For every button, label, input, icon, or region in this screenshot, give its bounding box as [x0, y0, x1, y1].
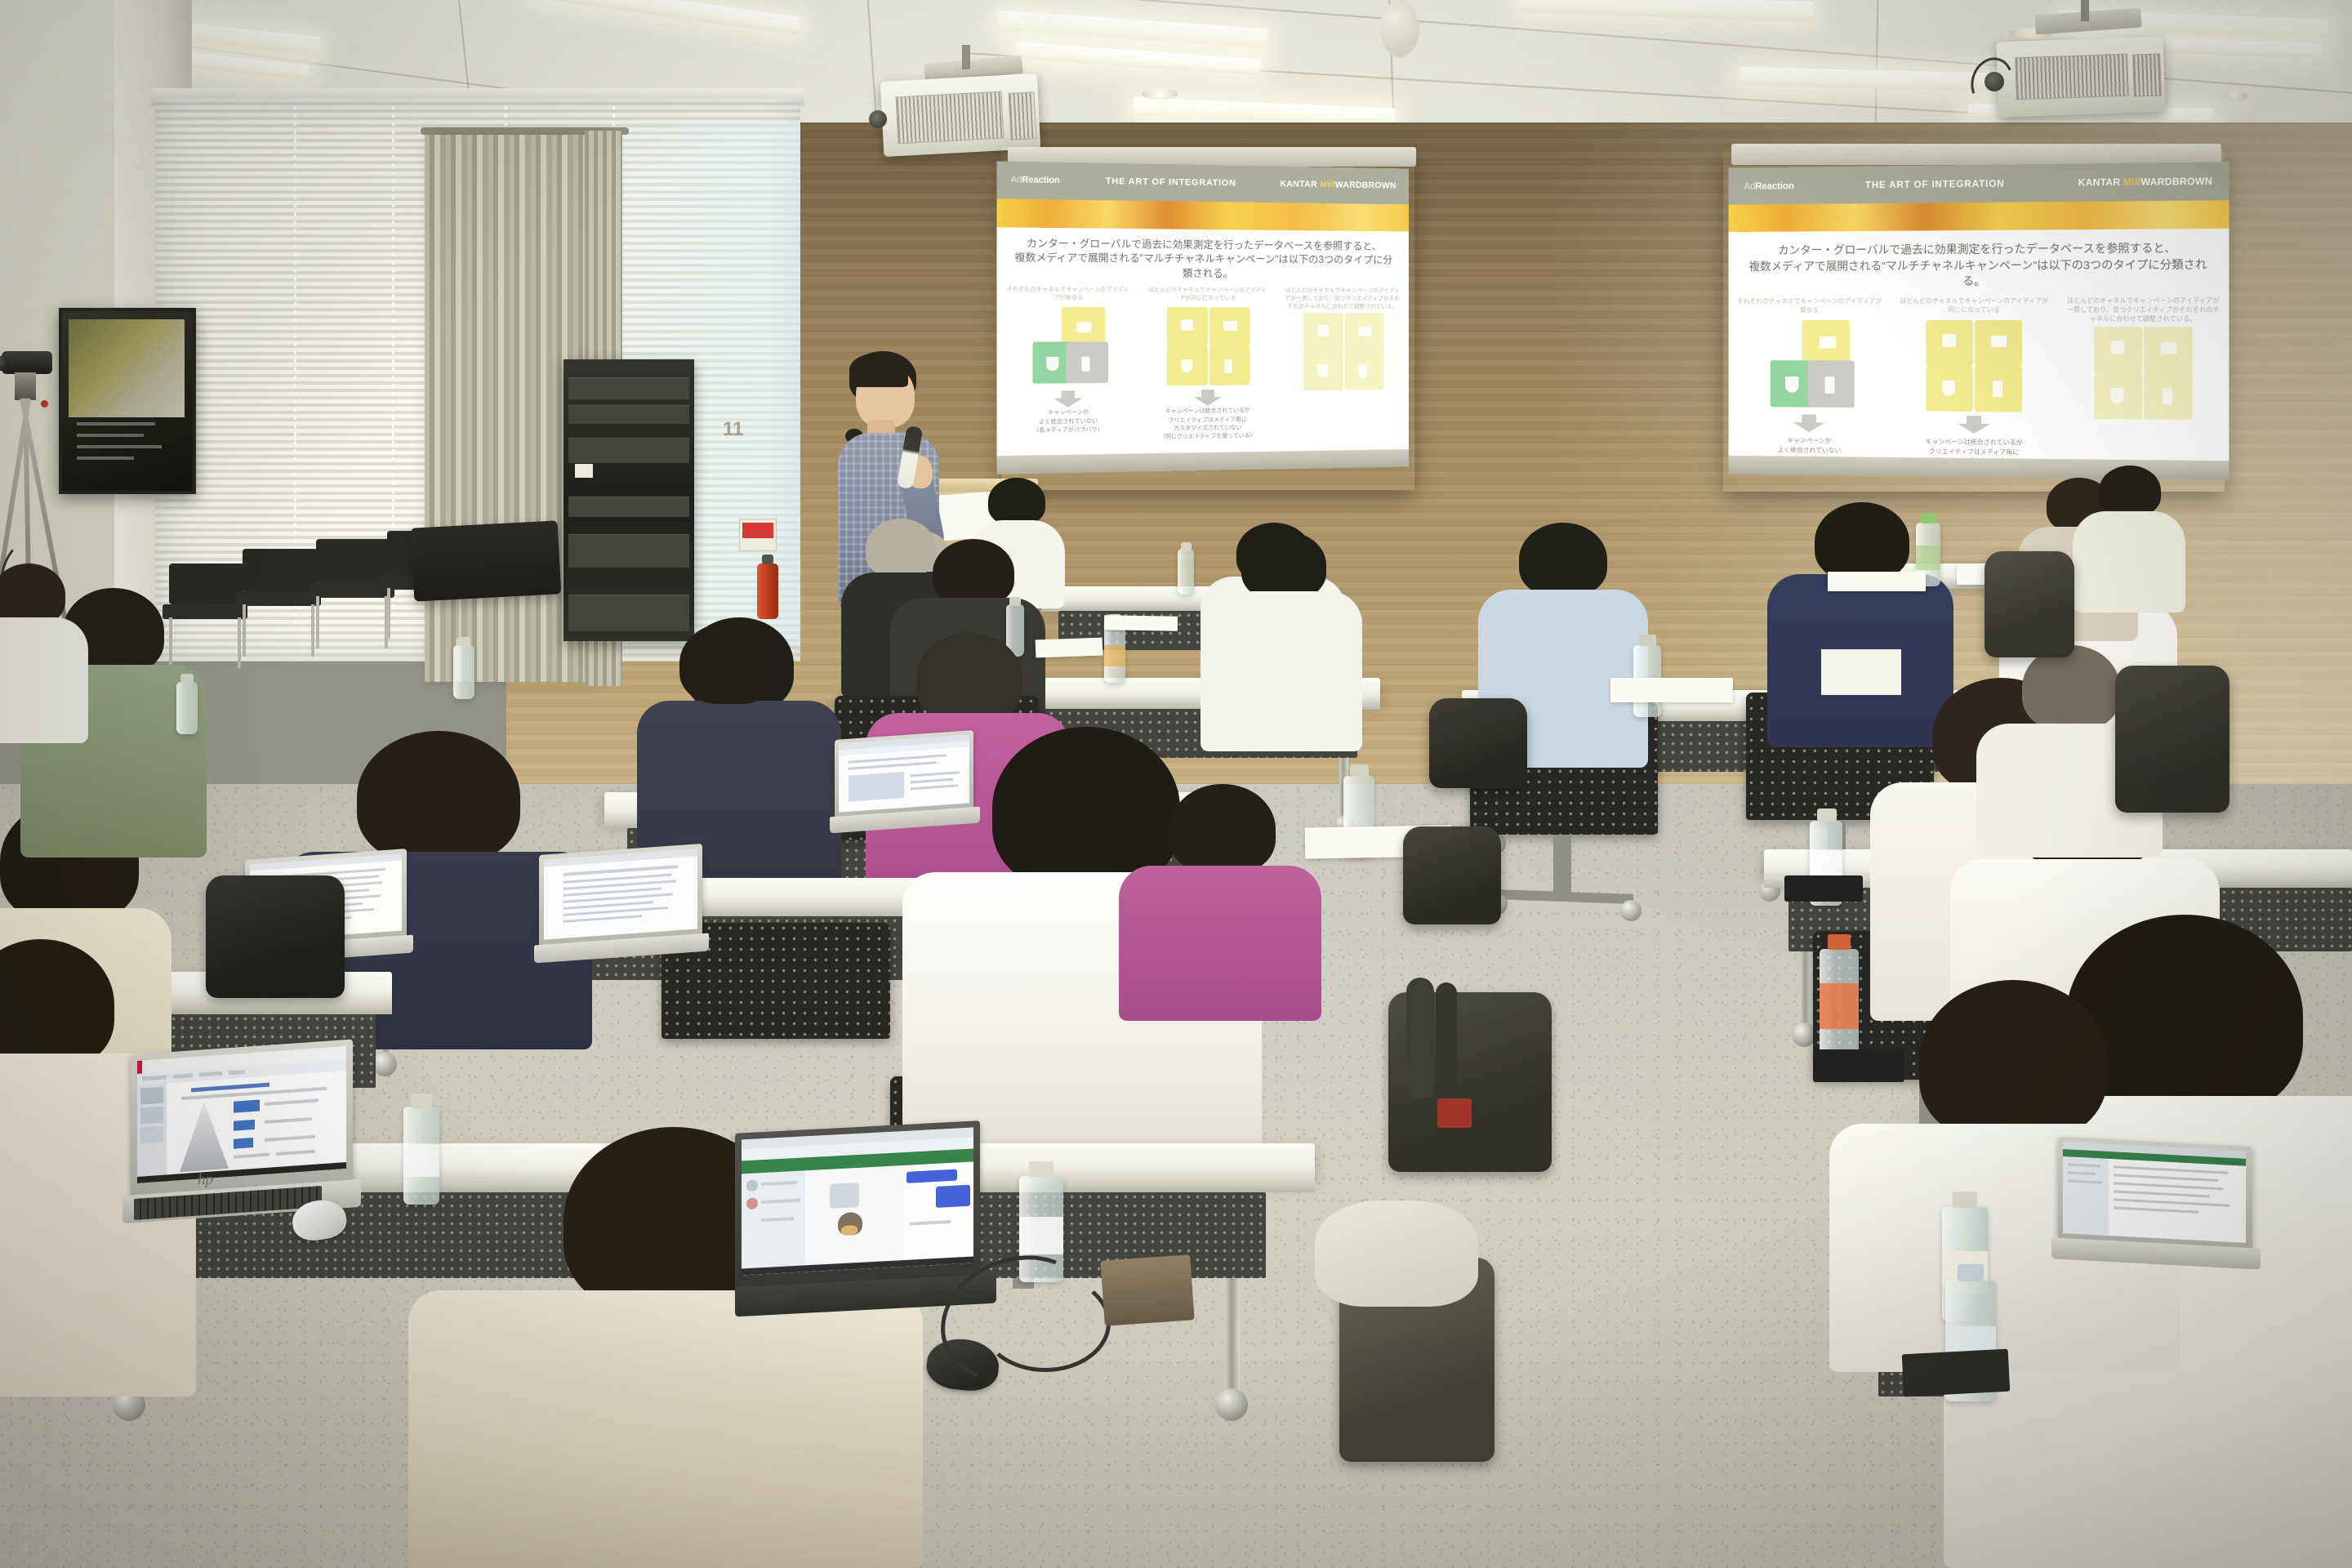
- slide-columns: それぞれのチャネルでキャンペーンのアイディアが異なる: [1729, 296, 2229, 479]
- smartphone[interactable]: [1784, 875, 1863, 902]
- arrow-down-icon: [1194, 390, 1222, 404]
- water-bottle[interactable]: [1820, 949, 1859, 1053]
- ceiling-light: [1519, 0, 1814, 22]
- slide-accent-band: [1729, 200, 2229, 232]
- bag[interactable]: [1984, 551, 2074, 657]
- puzzle-graphic: [2091, 327, 2196, 420]
- water-bottle[interactable]: [453, 645, 474, 699]
- attendee-left-row-2: [0, 563, 90, 743]
- slide-headline: カンター・グローバルで過去に効果測定を行ったデータベースを参照すると、 複数メデ…: [1729, 240, 2229, 291]
- slide-caption: キャンペーンが よく統合されていない （各メディアがバラバラ）: [1004, 408, 1131, 435]
- cloth-jacket: [1315, 1200, 1478, 1307]
- papers[interactable]: [1104, 615, 1178, 631]
- projector-right: [1984, 24, 2180, 147]
- puzzle-graphic: [1300, 313, 1385, 390]
- smartphone[interactable]: [1813, 1049, 1904, 1082]
- arrow-down-icon: [1793, 415, 1825, 432]
- slide-columns: それぞれのチャネルでキャンペーンのアイディアが異なる: [997, 286, 1409, 444]
- laptop-bag[interactable]: [1403, 826, 1501, 924]
- water-bottle[interactable]: [1178, 549, 1194, 595]
- slide-column: ほとんどのチャネルでキャンペーンのアイディアが一貫しており、且つクリエイティブが…: [2066, 296, 2221, 479]
- slide-center-title: THE ART OF INTEGRATION: [1106, 176, 1236, 189]
- attendee: [2073, 465, 2187, 612]
- laptop-mid-left[interactable]: [539, 849, 719, 972]
- slide-accent-band: [997, 198, 1409, 231]
- slide-headline: カンター・グローバルで過去に効果測定を行ったデータベースを参照すると、 複数メデ…: [997, 236, 1409, 283]
- slide-column: ほとんどのチャネルでキャンペーンのアイディアが一貫しており、且つクリエイティブが…: [1283, 287, 1402, 439]
- slide-center-title: THE ART OF INTEGRATION: [1865, 177, 2005, 190]
- bag[interactable]: [206, 875, 345, 998]
- adreaction-logo: AdReaction: [1744, 180, 1793, 191]
- slide-column: それぞれのチャネルでキャンペーンのアイディアが異なる: [1004, 286, 1131, 444]
- puzzle-graphic: [1164, 307, 1252, 386]
- mouse-cable: [980, 1274, 1111, 1372]
- extinguisher-handle: [762, 555, 773, 564]
- laptop-screen: [544, 849, 697, 939]
- bag-pocket: [1437, 1098, 1472, 1128]
- papers[interactable]: [1610, 678, 1733, 702]
- arrow-down-icon: [1054, 390, 1083, 406]
- bag[interactable]: [1429, 698, 1527, 788]
- presenter-hair-front: [849, 353, 908, 387]
- seminar-room-photo: 11 AdReaction THE ART OF INTEGRATION KAN…: [0, 0, 2352, 1568]
- video-camera: [2, 351, 52, 374]
- puzzle-graphic: [1022, 307, 1113, 387]
- slide-caption: キャンペーンは統合されているが クリエイティブはメディア毎に カスタマイズされて…: [1146, 408, 1269, 442]
- puzzle-graphic: [1759, 320, 1859, 411]
- stacked-chairs: [411, 520, 561, 601]
- laptop-screen: [839, 734, 969, 812]
- smoke-detector: [2226, 91, 2247, 101]
- slide-canvas: カンター・グローバルで過去に効果測定を行ったデータベースを参照すると、 複数メデ…: [997, 227, 1409, 474]
- projection-screen-right: AdReaction THE ART OF INTEGRATION KANTAR…: [1723, 149, 2225, 492]
- bag[interactable]: [2115, 666, 2229, 813]
- ceiling-light: [531, 0, 800, 35]
- attendee: [1200, 531, 1364, 751]
- attendee: [635, 622, 823, 802]
- tablet-device[interactable]: [1902, 1349, 2011, 1397]
- fire-alarm-box[interactable]: [739, 519, 777, 551]
- slide-header: AdReaction THE ART OF INTEGRATION KANTAR…: [997, 161, 1409, 204]
- kantar-millwardbrown-logo: KANTAR MillWARDBROWN: [1280, 180, 1396, 191]
- kantar-millwardbrown-logo: KANTAR MillWARDBROWN: [2078, 176, 2212, 189]
- slide-header: AdReaction THE ART OF INTEGRATION KANTAR…: [1729, 162, 2229, 204]
- water-bottle[interactable]: [176, 682, 198, 734]
- laptop-screen: [742, 1128, 973, 1276]
- room-number: 11: [723, 418, 743, 441]
- backpack[interactable]: [1388, 992, 1552, 1172]
- av-equipment-rack: [563, 359, 694, 641]
- water-bottle[interactable]: [403, 1107, 439, 1205]
- downlight: [1142, 88, 1178, 100]
- laptop-screen: [137, 1046, 346, 1183]
- adreaction-logo: AdReaction: [1011, 175, 1060, 185]
- puzzle-graphic: [1922, 320, 2025, 412]
- laptop-screen: [2063, 1142, 2246, 1243]
- record-indicator: [41, 400, 48, 408]
- smoke-detector: [1380, 0, 1419, 57]
- arrow-down-icon: [1958, 416, 1990, 433]
- alarm-red-panel: [742, 523, 773, 538]
- slide-content: AdReaction THE ART OF INTEGRATION KANTAR…: [997, 161, 1409, 474]
- rack-label: [575, 464, 593, 478]
- fire-extinguisher[interactable]: [757, 563, 778, 619]
- water-bottle[interactable]: [1104, 622, 1125, 683]
- attendee-mid-purple: [1119, 784, 1323, 1021]
- papers[interactable]: [1828, 572, 1926, 591]
- slide-content: AdReaction THE ART OF INTEGRATION KANTAR…: [1729, 162, 2229, 480]
- slide-canvas: カンター・グローバルで過去に効果測定を行ったデータベースを参照すると、 複数メデ…: [1729, 229, 2229, 480]
- slide-column: それぞれのチャネルでキャンペーンのアイディアが異なる: [1736, 296, 1882, 474]
- wallet[interactable]: [1100, 1254, 1194, 1325]
- projection-screen-left: AdReaction THE ART OF INTEGRATION KANTAR…: [1001, 147, 1414, 490]
- slide-column: ほとんどのチャネルでキャンペーンのアイディアが同じになっている: [1146, 287, 1269, 442]
- laptop-far-right[interactable]: [2058, 1142, 2270, 1289]
- tripod-head: [15, 372, 36, 400]
- hp-logo: hp: [198, 1171, 222, 1186]
- laptop-mid-center[interactable]: [835, 735, 990, 841]
- laptop-row2-left[interactable]: [539, 857, 540, 858]
- slide-column: ほとんどのチャネルでキャンペーンのアイディアが同じになっている: [1900, 296, 2050, 477]
